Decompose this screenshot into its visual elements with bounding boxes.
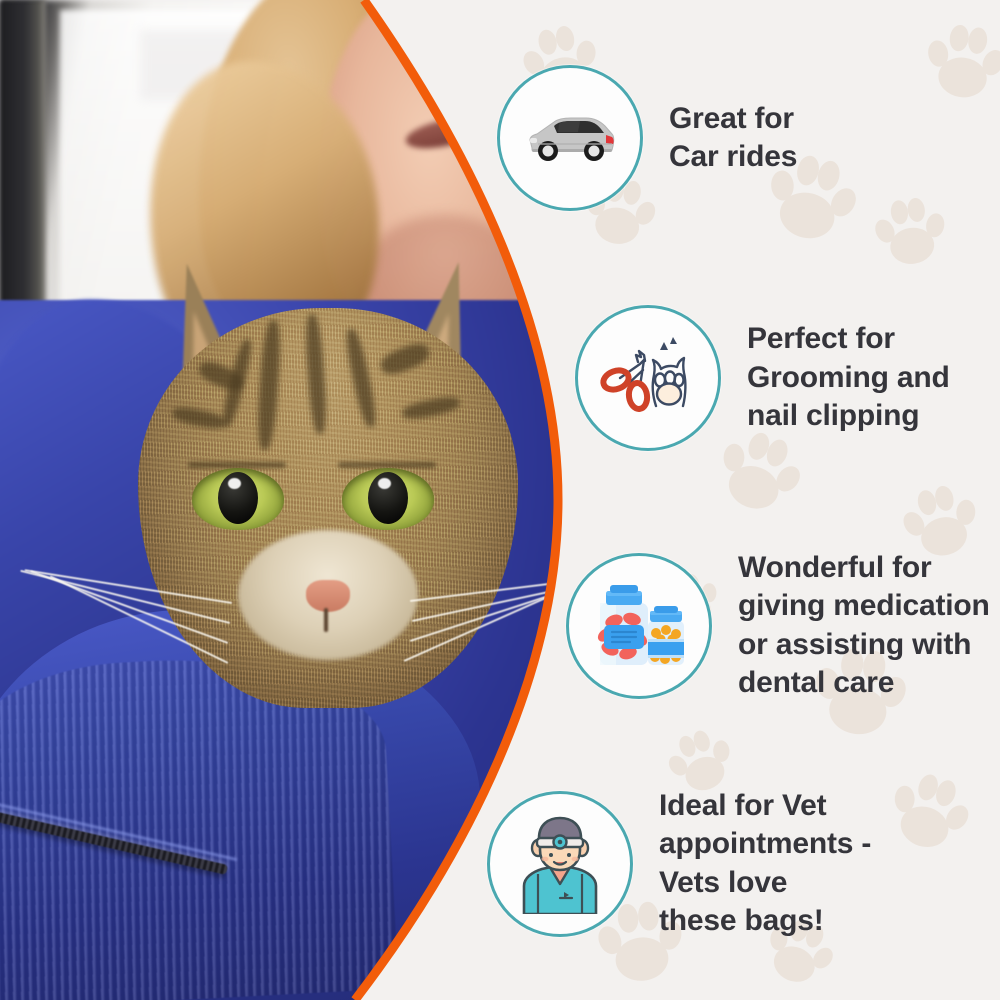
medication-bottles-icon: [588, 577, 690, 675]
feature-label: Ideal for Vet appointments - Vets love t…: [659, 787, 871, 941]
feature-label: Perfect for Grooming and nail clipping: [747, 320, 950, 435]
feature-badge: [497, 65, 643, 211]
feature-item-vet[interactable]: Ideal for Vet appointments - Vets love t…: [487, 787, 871, 941]
feature-label: Great for Car rides: [669, 100, 797, 177]
feature-badge: [566, 553, 712, 699]
feature-badge: [575, 305, 721, 451]
feature-badge: [487, 791, 633, 937]
feature-item-medication[interactable]: Wonderful for giving medication or assis…: [566, 549, 990, 703]
feature-item-car-rides[interactable]: Great for Car rides: [497, 65, 797, 211]
nail-clipper-paw-icon: [598, 328, 698, 428]
car-icon: [524, 108, 616, 168]
feature-label: Wonderful for giving medication or assis…: [738, 549, 990, 703]
veterinarian-icon: [512, 814, 608, 914]
feature-item-grooming[interactable]: Perfect for Grooming and nail clipping: [575, 305, 950, 451]
cat-photo-subject: [110, 250, 540, 720]
product-feature-graphic: Great for Car rides: [0, 0, 1000, 1000]
